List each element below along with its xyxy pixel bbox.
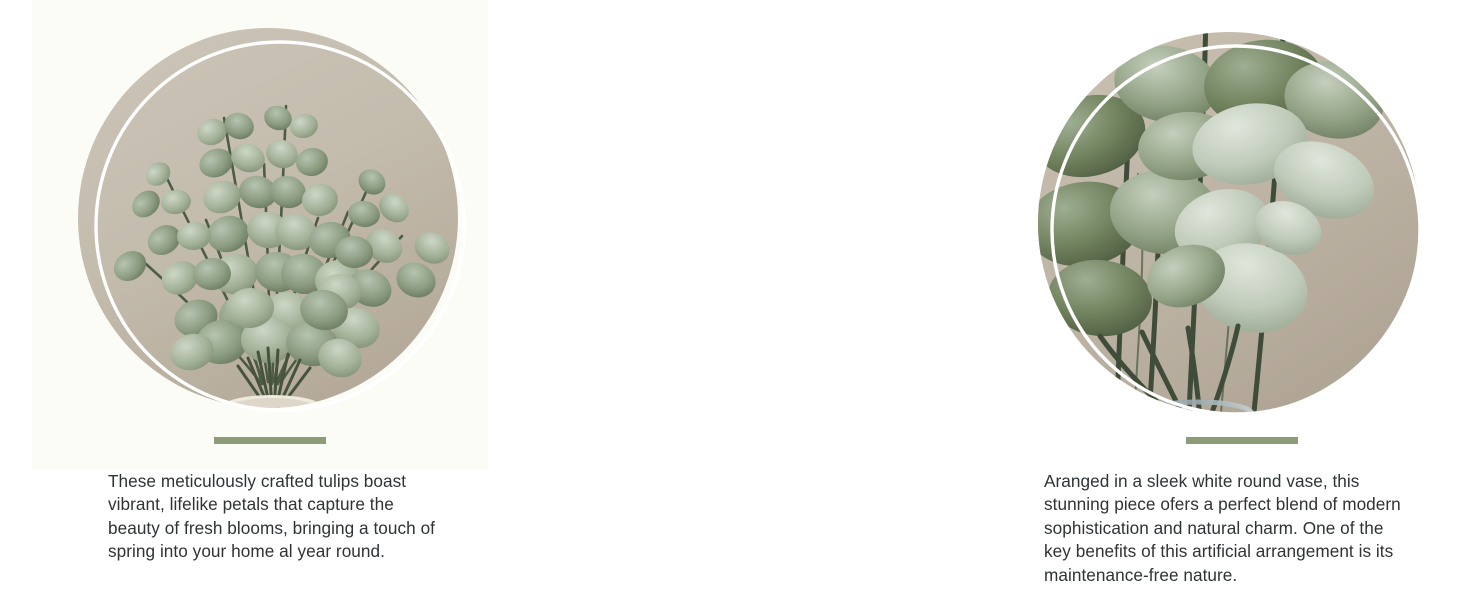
panel-background-wash [520, 0, 1040, 470]
panel-1-illustration [72, 22, 472, 422]
feature-panel-1: These meticulously crafted tulips boast … [0, 0, 488, 600]
eucalyptus-closeup-photo [1038, 14, 1420, 432]
product-feature-board: These meticulously crafted tulips boast … [0, 0, 1464, 600]
photo-circle-clip [1038, 14, 1420, 432]
accent-divider-2 [1186, 437, 1298, 444]
feature-panel-2: Aranged in a sleek white round vase, thi… [488, 0, 976, 600]
panel-2-caption: Aranged in a sleek white round vase, thi… [1044, 470, 1436, 587]
photo-circle-clip [72, 22, 472, 422]
panel-1-caption: These meticulously crafted tulips boast … [108, 470, 438, 564]
eucalyptus-bouquet-photo [72, 22, 472, 422]
panel-2-illustration [1038, 14, 1420, 432]
accent-divider-1 [214, 437, 326, 444]
